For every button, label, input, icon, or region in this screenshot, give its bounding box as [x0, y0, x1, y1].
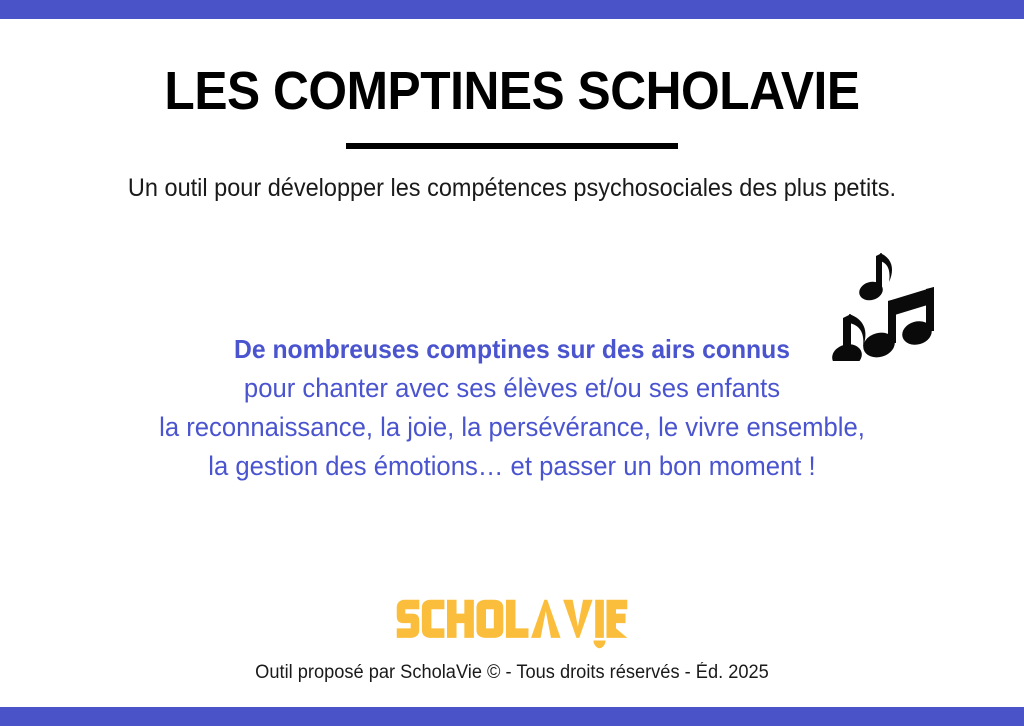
- message-line-2: pour chanter avec ses élèves et/ou ses e…: [26, 369, 999, 408]
- page-title: LES COMPTINES SCHOLAVIE: [41, 62, 983, 120]
- message-line-3: la reconnaissance, la joie, la persévéra…: [26, 408, 999, 447]
- page-subtitle: Un outil pour développer les compétences…: [31, 172, 994, 204]
- bottom-accent-bar: [0, 707, 1024, 726]
- footer-credit-text: Outil proposé par ScholaVie © - Tous dro…: [20, 660, 1003, 685]
- title-block: LES COMPTINES SCHOLAVIE: [0, 62, 1024, 149]
- scholavie-logo: [0, 598, 1024, 650]
- message-block: De nombreuses comptines sur des airs con…: [0, 330, 1024, 486]
- message-lead-line: De nombreuses comptines sur des airs con…: [26, 330, 999, 369]
- poster-page: LES COMPTINES SCHOLAVIE Un outil pour dé…: [0, 0, 1024, 726]
- message-line-4: la gestion des émotions… et passer un bo…: [26, 447, 999, 486]
- title-divider-rule: [346, 143, 678, 149]
- top-accent-bar: [0, 0, 1024, 19]
